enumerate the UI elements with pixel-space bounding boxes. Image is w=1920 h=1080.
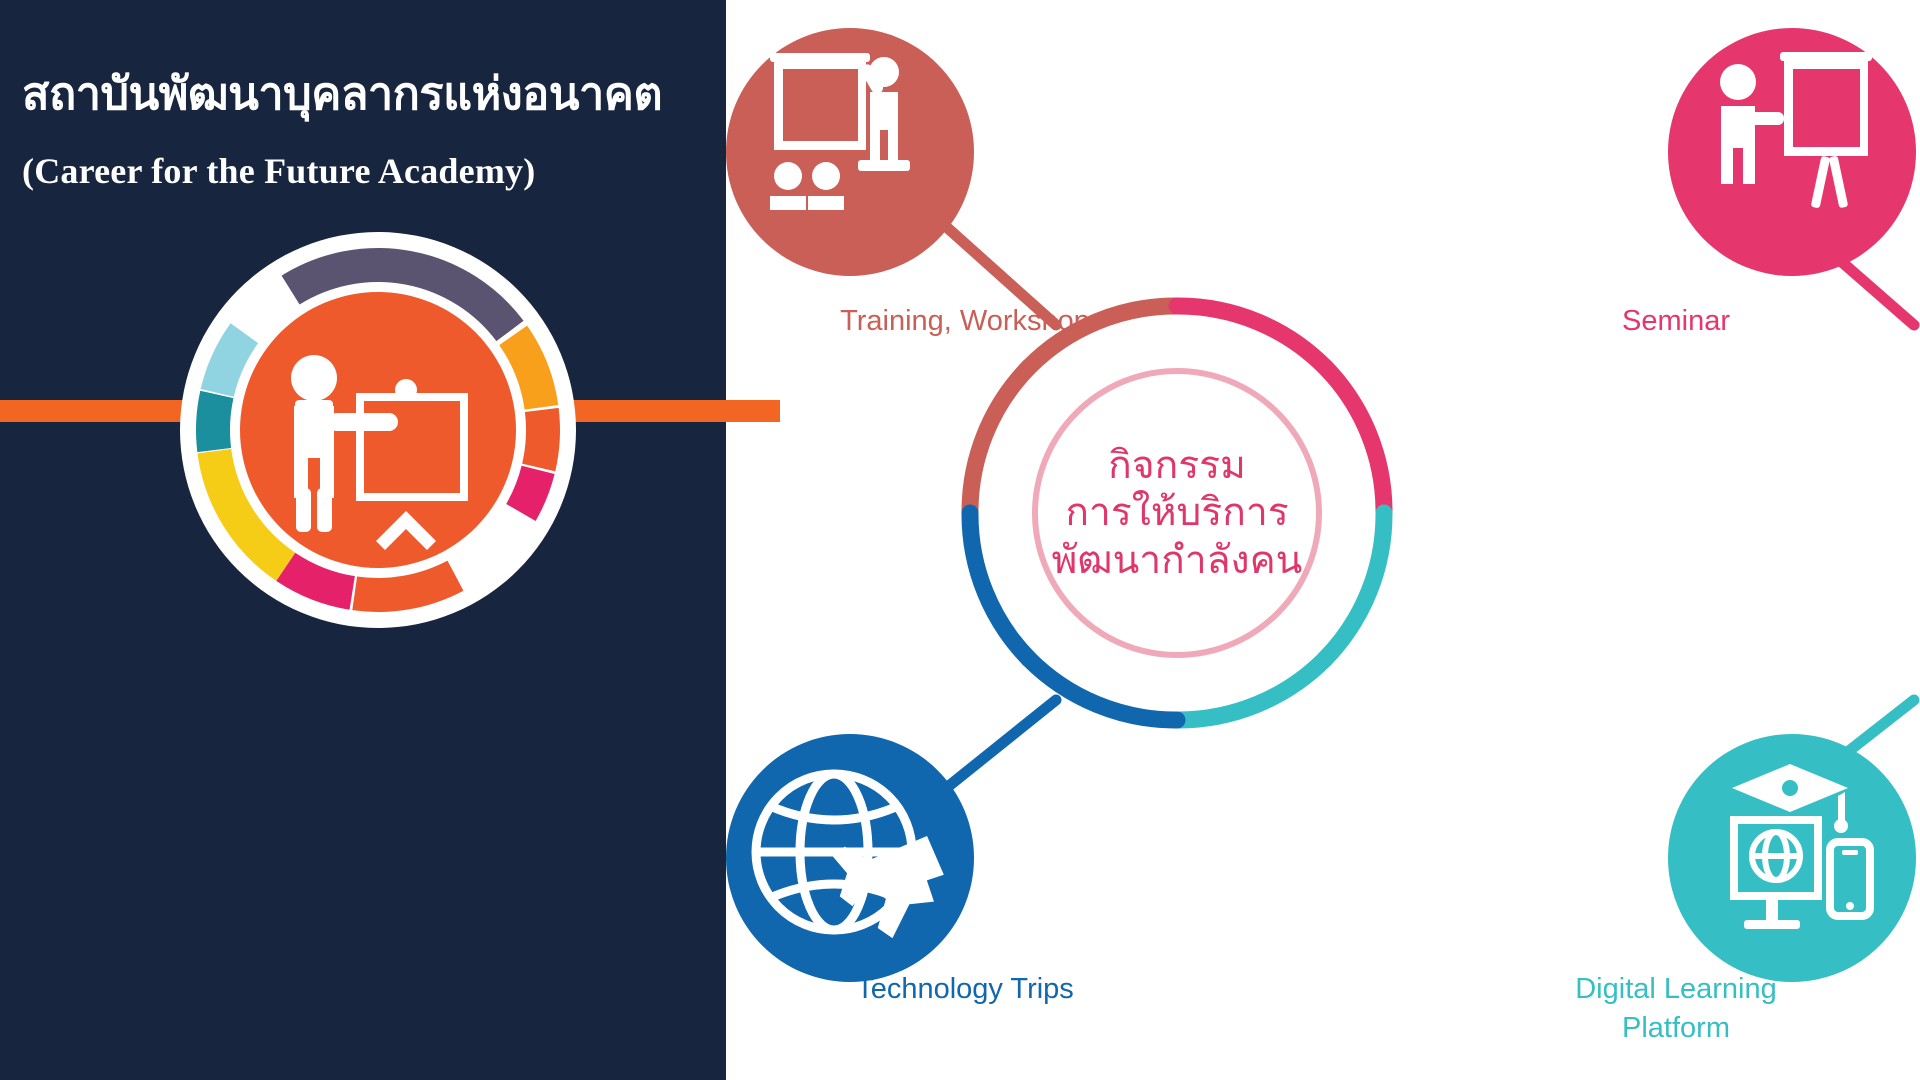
page-title: สถาบันพัฒนาบุคลากรแห่งอนาคต — [22, 70, 712, 117]
node-digital-learning-platform[interactable] — [1668, 734, 1916, 982]
diagram-graphics — [726, 0, 1920, 1080]
node-label-seminar[interactable]: Seminar — [1446, 302, 1906, 341]
node-seminar[interactable] — [1668, 28, 1916, 276]
service-activities-diagram: กิจกรรม การให้บริการ พัฒนากำลังคน Traini… — [726, 0, 1920, 1080]
academy-logo — [178, 230, 578, 630]
arc-seminar-2 — [1325, 367, 1384, 513]
arc-digital-2 — [1177, 659, 1325, 720]
center-ring — [1035, 371, 1319, 655]
node-label-digital-learning-platform[interactable]: Digital Learning Platform — [1426, 970, 1920, 1048]
node-technology-trips[interactable] — [726, 734, 974, 982]
page-subtitle: (Career for the Future Academy) — [22, 150, 535, 192]
node-label-technology-trips[interactable]: Technology Trips — [700, 970, 1230, 1009]
arc-trips-2 — [970, 513, 1029, 659]
arc-training-2 — [970, 367, 1029, 513]
node-label-training-workshop[interactable]: Training, Workshop — [700, 302, 1230, 341]
arc-digital — [1325, 513, 1384, 659]
node-training-workshop[interactable] — [726, 28, 974, 276]
